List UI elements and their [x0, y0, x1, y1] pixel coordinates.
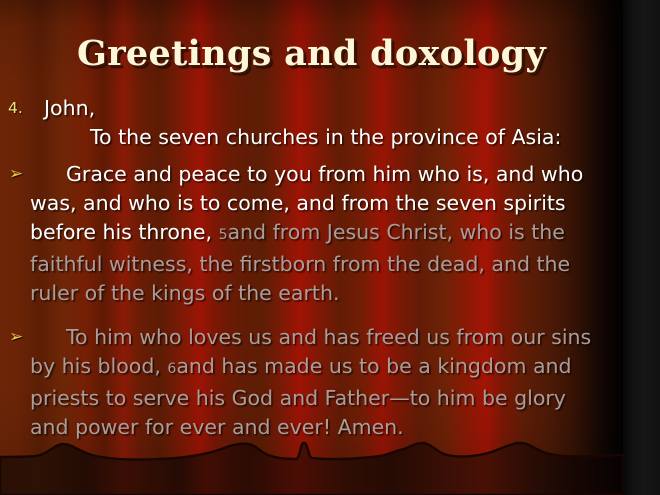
slide-body: 4. John, To the seven churches in the pr… — [0, 94, 623, 442]
paragraph-john-text: John, — [44, 96, 95, 120]
verse-number-6: 6 — [167, 361, 176, 377]
arrow-bullet-icon: ➢ — [9, 160, 23, 189]
paragraph-to-him-who-loves-us: ➢ To him who loves us and has freed us f… — [0, 323, 623, 442]
paragraph-john: 4. John, — [0, 94, 623, 123]
list-marker-number: 4. — [8, 94, 23, 123]
arrow-bullet-icon-2: ➢ — [9, 323, 23, 352]
paragraph-to-the-seven-churches-text: To the seven churches in the province of… — [90, 125, 561, 149]
slide-title: Greetings and doxology — [0, 33, 623, 74]
verse-number-5: 5 — [219, 227, 228, 243]
paragraph-grace-and-peace: ➢ Grace and peace to you from him who is… — [0, 160, 623, 308]
paragraph-to-the-seven-churches: To the seven churches in the province of… — [0, 123, 623, 152]
slide-right-dark-band — [623, 0, 660, 495]
presentation-slide: Greetings and doxology 4. John, To the s… — [0, 0, 660, 495]
